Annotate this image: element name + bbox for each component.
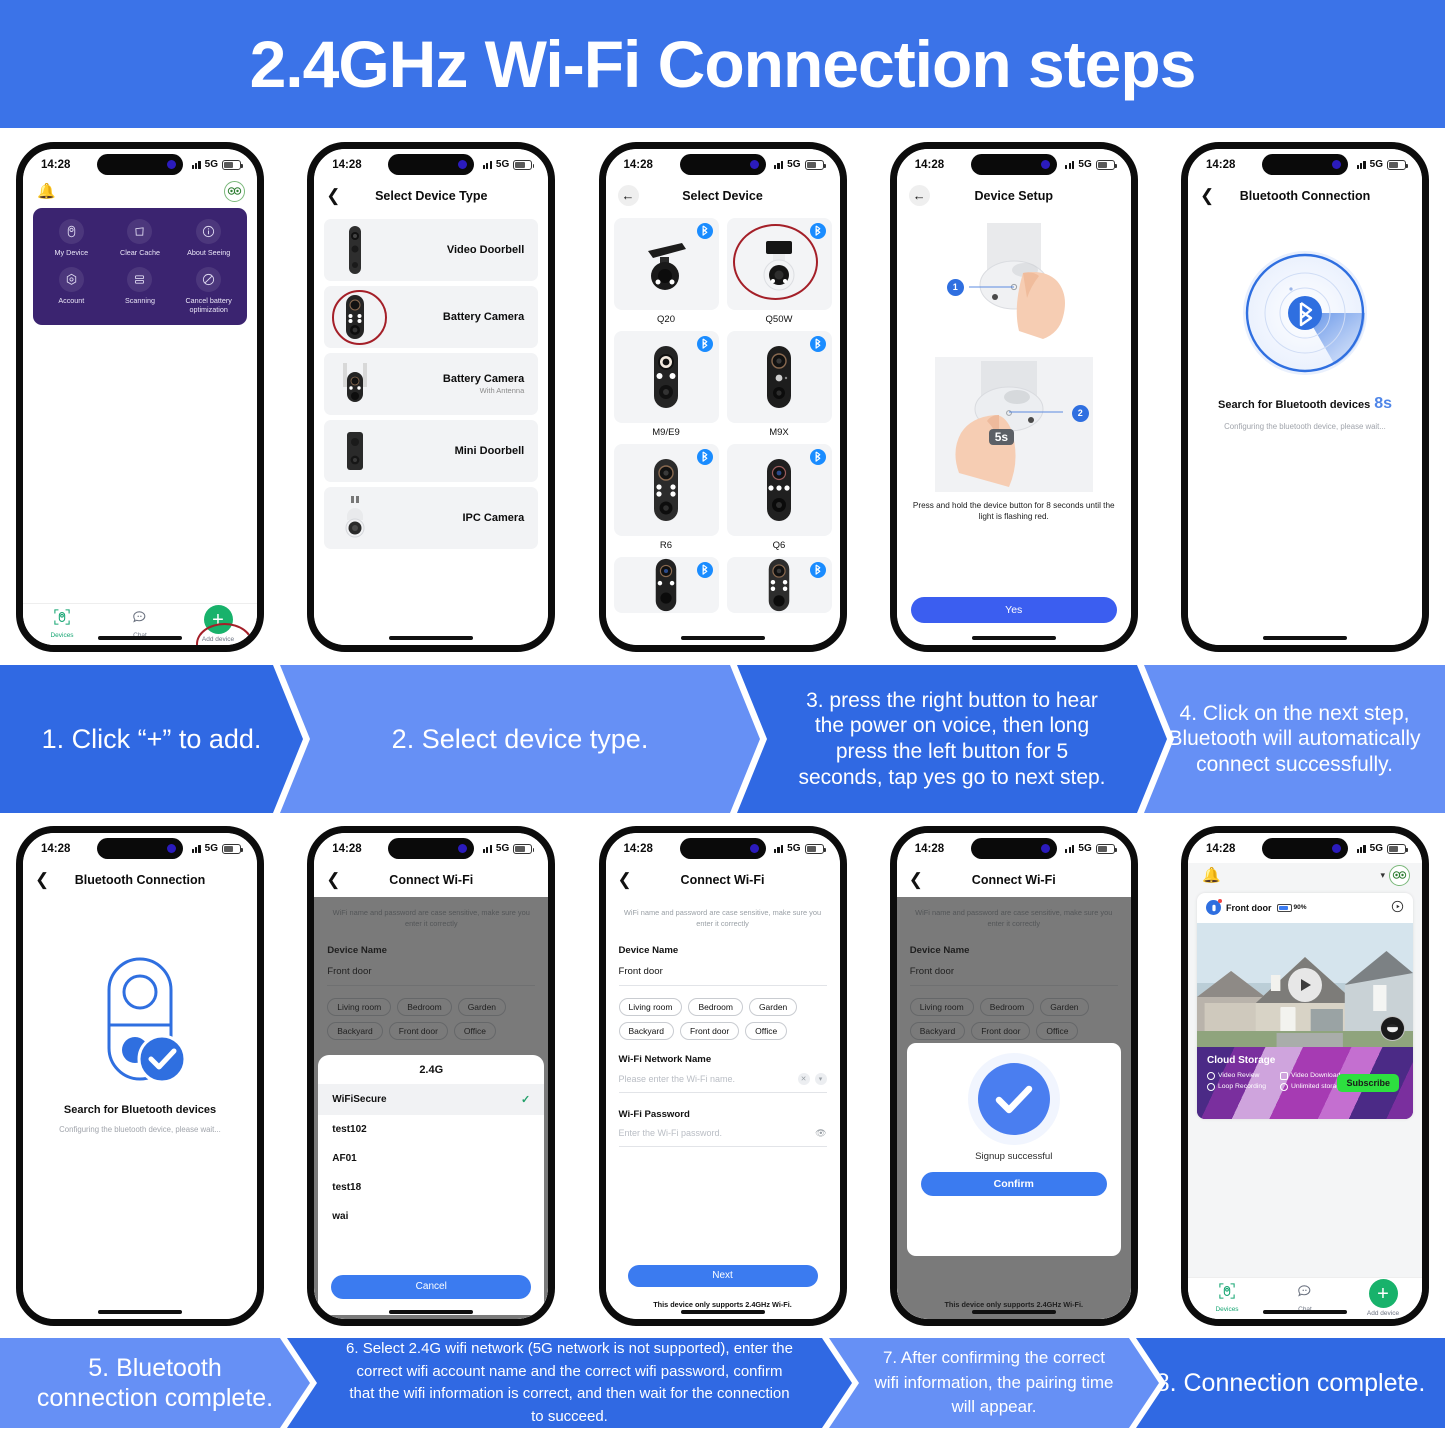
bluetooth-icon bbox=[810, 449, 826, 465]
wifi-network-row[interactable]: wai bbox=[318, 1202, 544, 1231]
wifi-name-placeholder: Please enter the Wi-Fi name. bbox=[619, 1074, 793, 1084]
device-type-sub: With Antenna bbox=[443, 386, 524, 395]
device-cell[interactable] bbox=[614, 557, 719, 613]
panel-item-scanning[interactable]: Scanning bbox=[106, 267, 175, 314]
signal-icon bbox=[1357, 160, 1366, 169]
step-1: 1. Click “+” to add. bbox=[0, 665, 303, 813]
step-4: 4. Click on the next step, Bluetooth wil… bbox=[1144, 665, 1445, 813]
cloud-feature: Video Download bbox=[1280, 1072, 1344, 1080]
camera-live-view[interactable] bbox=[1197, 923, 1413, 1047]
battery-icon bbox=[1387, 844, 1406, 854]
nav-title: Bluetooth Connection bbox=[1188, 189, 1422, 203]
wifi-password-placeholder: Enter the Wi-Fi password. bbox=[619, 1128, 811, 1138]
signal-icon bbox=[1065, 160, 1074, 169]
bluetooth-icon bbox=[810, 336, 826, 352]
step-8: 8. Connection complete. bbox=[1136, 1338, 1445, 1428]
setup-illustration-step2: 2 5s bbox=[935, 357, 1093, 492]
room-chip[interactable]: Garden bbox=[749, 998, 797, 1016]
tab-label: Add device bbox=[1367, 1310, 1399, 1317]
hold-duration-badge: 5s bbox=[989, 429, 1014, 445]
status-bar: 14:28 5G bbox=[606, 149, 840, 179]
device-type-row[interactable]: Mini Doorbell bbox=[324, 420, 538, 482]
bluetooth-radar-icon bbox=[1239, 247, 1371, 379]
device-type-name: Video Doorbell bbox=[447, 244, 524, 256]
bluetooth-search-sub: Configuring the bluetooth device, please… bbox=[1224, 422, 1386, 431]
highlight-ring-q50w bbox=[733, 224, 818, 300]
cloud-storage-banner[interactable]: Cloud Storage Video Review Video Downloa… bbox=[1197, 1047, 1413, 1119]
network-label: 5G bbox=[205, 159, 218, 170]
room-chips: Living room Bedroom Garden Backyard Fron… bbox=[619, 998, 827, 1040]
nav-title: Connect Wi-Fi bbox=[897, 873, 1131, 887]
battery-icon bbox=[805, 160, 824, 170]
tab-label: Devices bbox=[50, 632, 73, 639]
wifi-network-row[interactable]: test102 bbox=[318, 1115, 544, 1144]
chevron-left-icon[interactable]: ❮ bbox=[326, 187, 344, 204]
signal-icon bbox=[483, 844, 492, 853]
home-indicator bbox=[681, 636, 765, 640]
signal-icon bbox=[483, 160, 492, 169]
nav-bar: ❮ Bluetooth Connection bbox=[23, 863, 257, 897]
camera-name: Front door bbox=[1226, 903, 1272, 913]
step-5-text: 5. Bluetooth connection complete. bbox=[20, 1353, 290, 1414]
doorbell-thumb bbox=[334, 224, 376, 276]
nav-title: Select Device Type bbox=[314, 189, 548, 203]
cloud-feature: Loop Recording bbox=[1207, 1083, 1266, 1091]
cloud-storage-title: Cloud Storage bbox=[1207, 1055, 1403, 1066]
nav-title: Bluetooth Connection bbox=[23, 873, 257, 887]
device-cell[interactable] bbox=[727, 557, 832, 613]
chevron-left-icon[interactable]: ❮ bbox=[618, 871, 636, 888]
wifi-ssid: test102 bbox=[332, 1124, 366, 1135]
trash-icon bbox=[127, 219, 152, 244]
network-label: 5G bbox=[787, 159, 800, 170]
device-type-name: IPC Camera bbox=[462, 512, 524, 524]
phone-1-device-home: 14:28 5G 🔔 My Devi bbox=[16, 142, 264, 652]
step-6-text: 6. Select 2.4G wifi network (5G network … bbox=[335, 1338, 805, 1428]
device-name: Q50W bbox=[766, 314, 793, 325]
device-type-row[interactable]: Battery Camera bbox=[324, 286, 538, 348]
wifi-name-label: Wi-Fi Network Name bbox=[619, 1054, 827, 1065]
signal-icon bbox=[192, 844, 201, 853]
tab-label: Devices bbox=[1215, 1306, 1238, 1313]
chevron-left-icon[interactable]: ❮ bbox=[909, 871, 927, 888]
device-type-row[interactable]: Video Doorbell bbox=[324, 219, 538, 281]
bluetooth-icon bbox=[810, 223, 826, 239]
device-name-value[interactable]: Front door bbox=[619, 966, 827, 986]
home-indicator bbox=[972, 636, 1056, 640]
status-time: 14:28 bbox=[41, 159, 70, 171]
camera-check-icon bbox=[85, 947, 195, 1092]
phone-8-connect-wifi-form: 14:28 5G ❮ Connect Wi-Fi WiFi name and p… bbox=[599, 826, 847, 1326]
bluetooth-search-title: Search for Bluetooth devices bbox=[64, 1104, 216, 1116]
home-indicator bbox=[389, 636, 473, 640]
step-badge-1: 1 bbox=[947, 279, 964, 296]
setup-instruction: Press and hold the device button for 8 s… bbox=[911, 500, 1117, 524]
cancel-button[interactable]: Cancel bbox=[331, 1275, 531, 1299]
home-indicator bbox=[1263, 636, 1347, 640]
network-label: 5G bbox=[787, 843, 800, 854]
bluetooth-search-title: Search for Bluetooth devices 8s bbox=[1218, 395, 1392, 413]
status-bar: 14:28 5G bbox=[23, 149, 257, 179]
phone-2-select-device-type: 14:28 5G ❮ Select Device Type bbox=[307, 142, 555, 652]
panel-item-label: Clear Cache bbox=[120, 248, 160, 257]
dialog-message: Signup successful bbox=[975, 1151, 1052, 1162]
notch bbox=[97, 154, 183, 175]
wifi-ssid: wai bbox=[332, 1211, 348, 1222]
wifi-network-row[interactable]: AF01 bbox=[318, 1144, 544, 1173]
nav-bar: ❮ Select Device Type bbox=[314, 179, 548, 213]
bluetooth-icon bbox=[697, 449, 713, 465]
wifi-password-field[interactable]: Enter the Wi-Fi password. 👁 bbox=[619, 1128, 827, 1147]
bluetooth-icon bbox=[697, 223, 713, 239]
camera-lens-icon[interactable] bbox=[1380, 1016, 1405, 1041]
device-name: Q6 bbox=[773, 540, 786, 551]
nav-title: Connect Wi-Fi bbox=[606, 873, 840, 887]
panel-item-label: Cancel battery optimization bbox=[174, 296, 243, 314]
sheet-title: 2.4G bbox=[318, 1064, 544, 1084]
network-label: 5G bbox=[496, 843, 509, 854]
network-label: 5G bbox=[1078, 843, 1091, 854]
status-bar: 14:28 5G bbox=[897, 149, 1131, 179]
step-6: 6. Select 2.4G wifi network (5G network … bbox=[287, 1338, 852, 1428]
network-label: 5G bbox=[205, 843, 218, 854]
network-label: 5G bbox=[1370, 843, 1383, 854]
status-bar: 14:28 5G bbox=[314, 833, 548, 863]
subscribe-button[interactable]: Subscribe bbox=[1337, 1074, 1399, 1092]
wifi-hint: WiFi name and password are case sensitiv… bbox=[623, 907, 823, 929]
status-bar: 14:28 5G bbox=[1188, 149, 1422, 179]
panel-item-about[interactable]: About Seeing bbox=[174, 219, 243, 257]
status-time: 14:28 bbox=[624, 843, 653, 855]
notch bbox=[1262, 154, 1348, 175]
confirm-button[interactable]: Confirm bbox=[921, 1172, 1107, 1196]
device-icon bbox=[59, 219, 84, 244]
phone-4-device-setup: 14:28 5G ← Device Setup bbox=[890, 142, 1138, 652]
notch bbox=[680, 838, 766, 859]
step-2-text: 2. Select device type. bbox=[382, 723, 659, 756]
info-icon bbox=[196, 219, 221, 244]
notch bbox=[388, 154, 474, 175]
signal-icon bbox=[1357, 844, 1366, 853]
device-type-list: Video Doorbell Battery Camera bbox=[314, 213, 548, 549]
home-indicator bbox=[681, 1310, 765, 1314]
clear-circle-icon[interactable]: ✕ bbox=[798, 1073, 810, 1085]
battery-icon bbox=[222, 844, 241, 854]
room-chip[interactable]: Backyard bbox=[619, 1022, 674, 1040]
chat-icon bbox=[1297, 1283, 1313, 1304]
signal-icon bbox=[774, 160, 783, 169]
panel-item-label: Account bbox=[58, 296, 84, 305]
wifi-ssid: test18 bbox=[332, 1182, 361, 1193]
status-time: 14:28 bbox=[41, 843, 70, 855]
device-name-label: Device Name bbox=[619, 945, 827, 956]
tab-chat[interactable]: Chat bbox=[101, 609, 179, 639]
battery-icon bbox=[1096, 160, 1115, 170]
devices-icon bbox=[1219, 1283, 1235, 1304]
status-bar: 14:28 5G bbox=[314, 149, 548, 179]
battery-camera-antenna-thumb bbox=[334, 358, 376, 410]
status-time: 14:28 bbox=[332, 159, 361, 171]
panel-item-label: My Device bbox=[55, 248, 89, 257]
owl-avatar-icon[interactable] bbox=[224, 181, 245, 202]
page-header: 2.4GHz Wi-Fi Connection steps bbox=[0, 0, 1445, 128]
home-indicator bbox=[389, 1310, 473, 1314]
notch bbox=[97, 838, 183, 859]
ipc-camera-thumb bbox=[334, 492, 376, 544]
phone-10-camera-home: 14:28 5G 🔔 ▾ bbox=[1181, 826, 1429, 1326]
eye-off-icon[interactable]: 👁 bbox=[815, 1128, 826, 1139]
chevron-down-circle-icon[interactable]: ▾ bbox=[815, 1073, 827, 1085]
bluetooth-search-label: Search for Bluetooth devices bbox=[64, 1104, 216, 1116]
device-type-name: Battery Camera bbox=[443, 311, 524, 323]
signal-icon bbox=[1065, 844, 1074, 853]
step-8-text: 8. Connection complete. bbox=[1146, 1368, 1436, 1399]
battery-icon bbox=[1387, 160, 1406, 170]
nav-title: Select Device bbox=[606, 189, 840, 203]
phone-row-top: 14:28 5G 🔔 My Devi bbox=[0, 128, 1445, 665]
chevron-left-icon[interactable]: ❮ bbox=[326, 871, 344, 888]
wifi-ssid: WiFiSecure bbox=[332, 1094, 386, 1105]
device-type-row[interactable]: IPC Camera bbox=[324, 487, 538, 549]
device-grid: Q20 Q50W bbox=[606, 213, 840, 613]
device-name: R6 bbox=[660, 540, 672, 551]
room-chip[interactable]: Front door bbox=[680, 1022, 739, 1040]
wifi-ssid: AF01 bbox=[332, 1153, 356, 1164]
bluetooth-search-sub: Configuring the bluetooth device, please… bbox=[59, 1125, 221, 1134]
home-indicator bbox=[98, 636, 182, 640]
home-indicator bbox=[1263, 1310, 1347, 1314]
notch bbox=[971, 838, 1057, 859]
bell-icon[interactable]: 🔔 bbox=[37, 182, 56, 200]
step-7-text: 7. After confirming the correct wifi inf… bbox=[859, 1346, 1129, 1420]
device-cell[interactable]: Q20 bbox=[614, 218, 719, 325]
battery-icon bbox=[805, 844, 824, 854]
bluetooth-icon bbox=[697, 336, 713, 352]
bluetooth-countdown: 8s bbox=[1374, 395, 1392, 413]
check-icon: ✓ bbox=[521, 1093, 530, 1106]
device-type-name: Battery Camera bbox=[443, 373, 524, 385]
status-time: 14:28 bbox=[915, 159, 944, 171]
panel-item-account[interactable]: Account bbox=[37, 267, 106, 314]
battery-icon bbox=[222, 160, 241, 170]
nav-bar: ❮ Bluetooth Connection bbox=[1188, 179, 1422, 213]
step-3: 3. press the right button to hear the po… bbox=[737, 665, 1167, 813]
nav-bar: ❮ Connect Wi-Fi bbox=[897, 863, 1131, 897]
panel-item-label: Scanning bbox=[125, 296, 155, 305]
step-1-text: 1. Click “+” to add. bbox=[32, 723, 272, 756]
battery-icon bbox=[1096, 844, 1115, 854]
tab-add-device[interactable]: + Add device bbox=[1344, 1279, 1422, 1317]
status-bar: 14:28 5G bbox=[606, 833, 840, 863]
device-name: M9X bbox=[769, 427, 789, 438]
steps-banner-bottom: 5. Bluetooth connection complete. 6. Sel… bbox=[0, 1338, 1445, 1428]
panel-item-clear-cache[interactable]: Clear Cache bbox=[106, 219, 175, 257]
cloud-feature: Unlimited storage bbox=[1280, 1083, 1344, 1091]
notch bbox=[971, 154, 1057, 175]
nav-bar: ❮ Connect Wi-Fi bbox=[314, 863, 548, 897]
phone-6-bluetooth-complete: 14:28 5G ❮ Bluetooth Connection bbox=[16, 826, 264, 1326]
step-7: 7. After confirming the correct wifi inf… bbox=[829, 1338, 1159, 1428]
network-label: 5G bbox=[1370, 159, 1383, 170]
chevron-left-icon[interactable]: ❮ bbox=[1200, 187, 1218, 204]
camera-card: Front door 90% bbox=[1197, 893, 1413, 1119]
mini-doorbell-thumb bbox=[334, 425, 376, 477]
device-cell[interactable]: R6 bbox=[614, 444, 719, 551]
next-button[interactable]: Next bbox=[628, 1265, 818, 1287]
room-chip[interactable]: Bedroom bbox=[688, 998, 743, 1016]
device-name: Q20 bbox=[657, 314, 675, 325]
status-bar: 14:28 5G bbox=[1188, 833, 1422, 863]
chat-icon bbox=[132, 609, 148, 630]
tab-devices[interactable]: Devices bbox=[1188, 1283, 1266, 1313]
cloud-feature: Video Review bbox=[1207, 1072, 1266, 1080]
battery-icon bbox=[513, 844, 532, 854]
camera-battery-value: 90% bbox=[1294, 904, 1307, 911]
status-time: 14:28 bbox=[915, 843, 944, 855]
network-label: 5G bbox=[1078, 159, 1091, 170]
quick-actions-panel: My Device Clear Cache About Seeing Accou… bbox=[33, 208, 247, 325]
play-icon[interactable] bbox=[1288, 968, 1322, 1002]
device-type-name: Mini Doorbell bbox=[455, 445, 525, 457]
panel-item-cancel-battery-optimization[interactable]: Cancel battery optimization bbox=[174, 267, 243, 314]
owl-avatar-icon[interactable] bbox=[1389, 865, 1410, 886]
device-cell[interactable]: Q50W bbox=[727, 218, 832, 325]
device-type-row[interactable]: Battery Camera With Antenna bbox=[324, 353, 538, 415]
home-indicator bbox=[98, 1310, 182, 1314]
no-entry-icon bbox=[196, 267, 221, 292]
wifi-form: WiFi name and password are case sensitiv… bbox=[606, 897, 840, 1319]
notch bbox=[680, 154, 766, 175]
wifi-picker-sheet: 2.4G WiFiSecure ✓ test102 AF01 test18 bbox=[318, 1055, 544, 1315]
camera-status-icon bbox=[1206, 900, 1221, 915]
camera-battery: 90% bbox=[1277, 904, 1307, 912]
battery-icon bbox=[513, 160, 532, 170]
phone-9-signup-successful: 14:28 5G ❮ Connect Wi-Fi WiFi name and p… bbox=[890, 826, 1138, 1326]
wifi-network-row[interactable]: test18 bbox=[318, 1173, 544, 1202]
bell-icon[interactable]: 🔔 bbox=[1202, 866, 1221, 884]
device-cell[interactable]: M9/E9 bbox=[614, 331, 719, 438]
phone-3-select-device: 14:28 5G ← Select Device bbox=[599, 142, 847, 652]
step-4-text: 4. Click on the next step, Bluetooth wil… bbox=[1150, 701, 1440, 778]
tab-devices[interactable]: Devices bbox=[23, 609, 101, 639]
wifi-footer-note: This device only supports 2.4GHz Wi-Fi. bbox=[606, 1300, 840, 1309]
network-label: 5G bbox=[496, 159, 509, 170]
wifi-network-row[interactable]: WiFiSecure ✓ bbox=[318, 1084, 544, 1115]
phone-5-bluetooth-connection: 14:28 5G ❮ Bluetooth Connection bbox=[1181, 142, 1429, 652]
nav-title: Connect Wi-Fi bbox=[314, 873, 548, 887]
device-cell[interactable]: M9X bbox=[727, 331, 832, 438]
phone-7-wifi-picker: 14:28 5G ❮ Connect Wi-Fi WiFi name and p… bbox=[307, 826, 555, 1326]
room-chip[interactable]: Living room bbox=[619, 998, 683, 1016]
status-time: 14:28 bbox=[1206, 843, 1235, 855]
highlight-ring-battery-camera bbox=[332, 290, 387, 345]
step-badge-2: 2 bbox=[1072, 405, 1089, 422]
setup-illustration-step1: 1 bbox=[939, 215, 1089, 355]
room-chip[interactable]: Office bbox=[745, 1022, 787, 1040]
nav-title: Device Setup bbox=[897, 189, 1131, 203]
yes-button[interactable]: Yes bbox=[911, 597, 1117, 623]
bluetooth-icon bbox=[810, 562, 826, 578]
home-indicator bbox=[972, 1310, 1056, 1314]
bluetooth-icon bbox=[697, 562, 713, 578]
wifi-password-label: Wi-Fi Password bbox=[619, 1109, 827, 1120]
phone-row-bottom: 14:28 5G ❮ Bluetooth Connection bbox=[0, 813, 1445, 1338]
hexagon-account-icon bbox=[59, 267, 84, 292]
status-time: 14:28 bbox=[624, 159, 653, 171]
plus-icon[interactable]: + bbox=[1369, 1279, 1398, 1308]
status-time: 14:28 bbox=[1206, 159, 1235, 171]
devices-icon bbox=[54, 609, 70, 630]
history-icon[interactable] bbox=[1391, 900, 1404, 916]
panel-item-label: About Seeing bbox=[187, 248, 230, 257]
nav-bar: ← Select Device bbox=[606, 179, 840, 213]
device-name: M9/E9 bbox=[652, 427, 679, 438]
scan-icon bbox=[127, 267, 152, 292]
step-2: 2. Select device type. bbox=[280, 665, 760, 813]
step-5: 5. Bluetooth connection complete. bbox=[0, 1338, 310, 1428]
tab-chat[interactable]: Chat bbox=[1266, 1283, 1344, 1313]
notch bbox=[388, 838, 474, 859]
wifi-name-field[interactable]: Please enter the Wi-Fi name. ✕ ▾ bbox=[619, 1073, 827, 1093]
signup-success-dialog: Signup successful Confirm bbox=[907, 1043, 1121, 1256]
status-bar: 14:28 5G bbox=[23, 833, 257, 863]
check-circle-icon bbox=[978, 1063, 1050, 1135]
steps-banner-top: 1. Click “+” to add. 2. Select device ty… bbox=[0, 665, 1445, 813]
nav-bar: ❮ Connect Wi-Fi bbox=[606, 863, 840, 897]
notch bbox=[1262, 838, 1348, 859]
page-title: 2.4GHz Wi-Fi Connection steps bbox=[250, 26, 1196, 102]
arrow-left-icon[interactable]: ← bbox=[909, 185, 930, 206]
chevron-down-icon[interactable]: ▾ bbox=[1380, 870, 1385, 881]
signal-icon bbox=[192, 160, 201, 169]
device-cell[interactable]: Q6 bbox=[727, 444, 832, 551]
step-3-text: 3. press the right button to hear the po… bbox=[787, 688, 1117, 790]
nav-bar: ← Device Setup bbox=[897, 179, 1131, 213]
arrow-left-icon[interactable]: ← bbox=[618, 185, 639, 206]
signal-icon bbox=[774, 844, 783, 853]
chevron-left-icon[interactable]: ❮ bbox=[35, 871, 53, 888]
bluetooth-search-label: Search for Bluetooth devices bbox=[1218, 399, 1370, 411]
status-time: 14:28 bbox=[332, 843, 361, 855]
status-bar: 14:28 5G bbox=[897, 833, 1131, 863]
panel-item-my-device[interactable]: My Device bbox=[37, 219, 106, 257]
